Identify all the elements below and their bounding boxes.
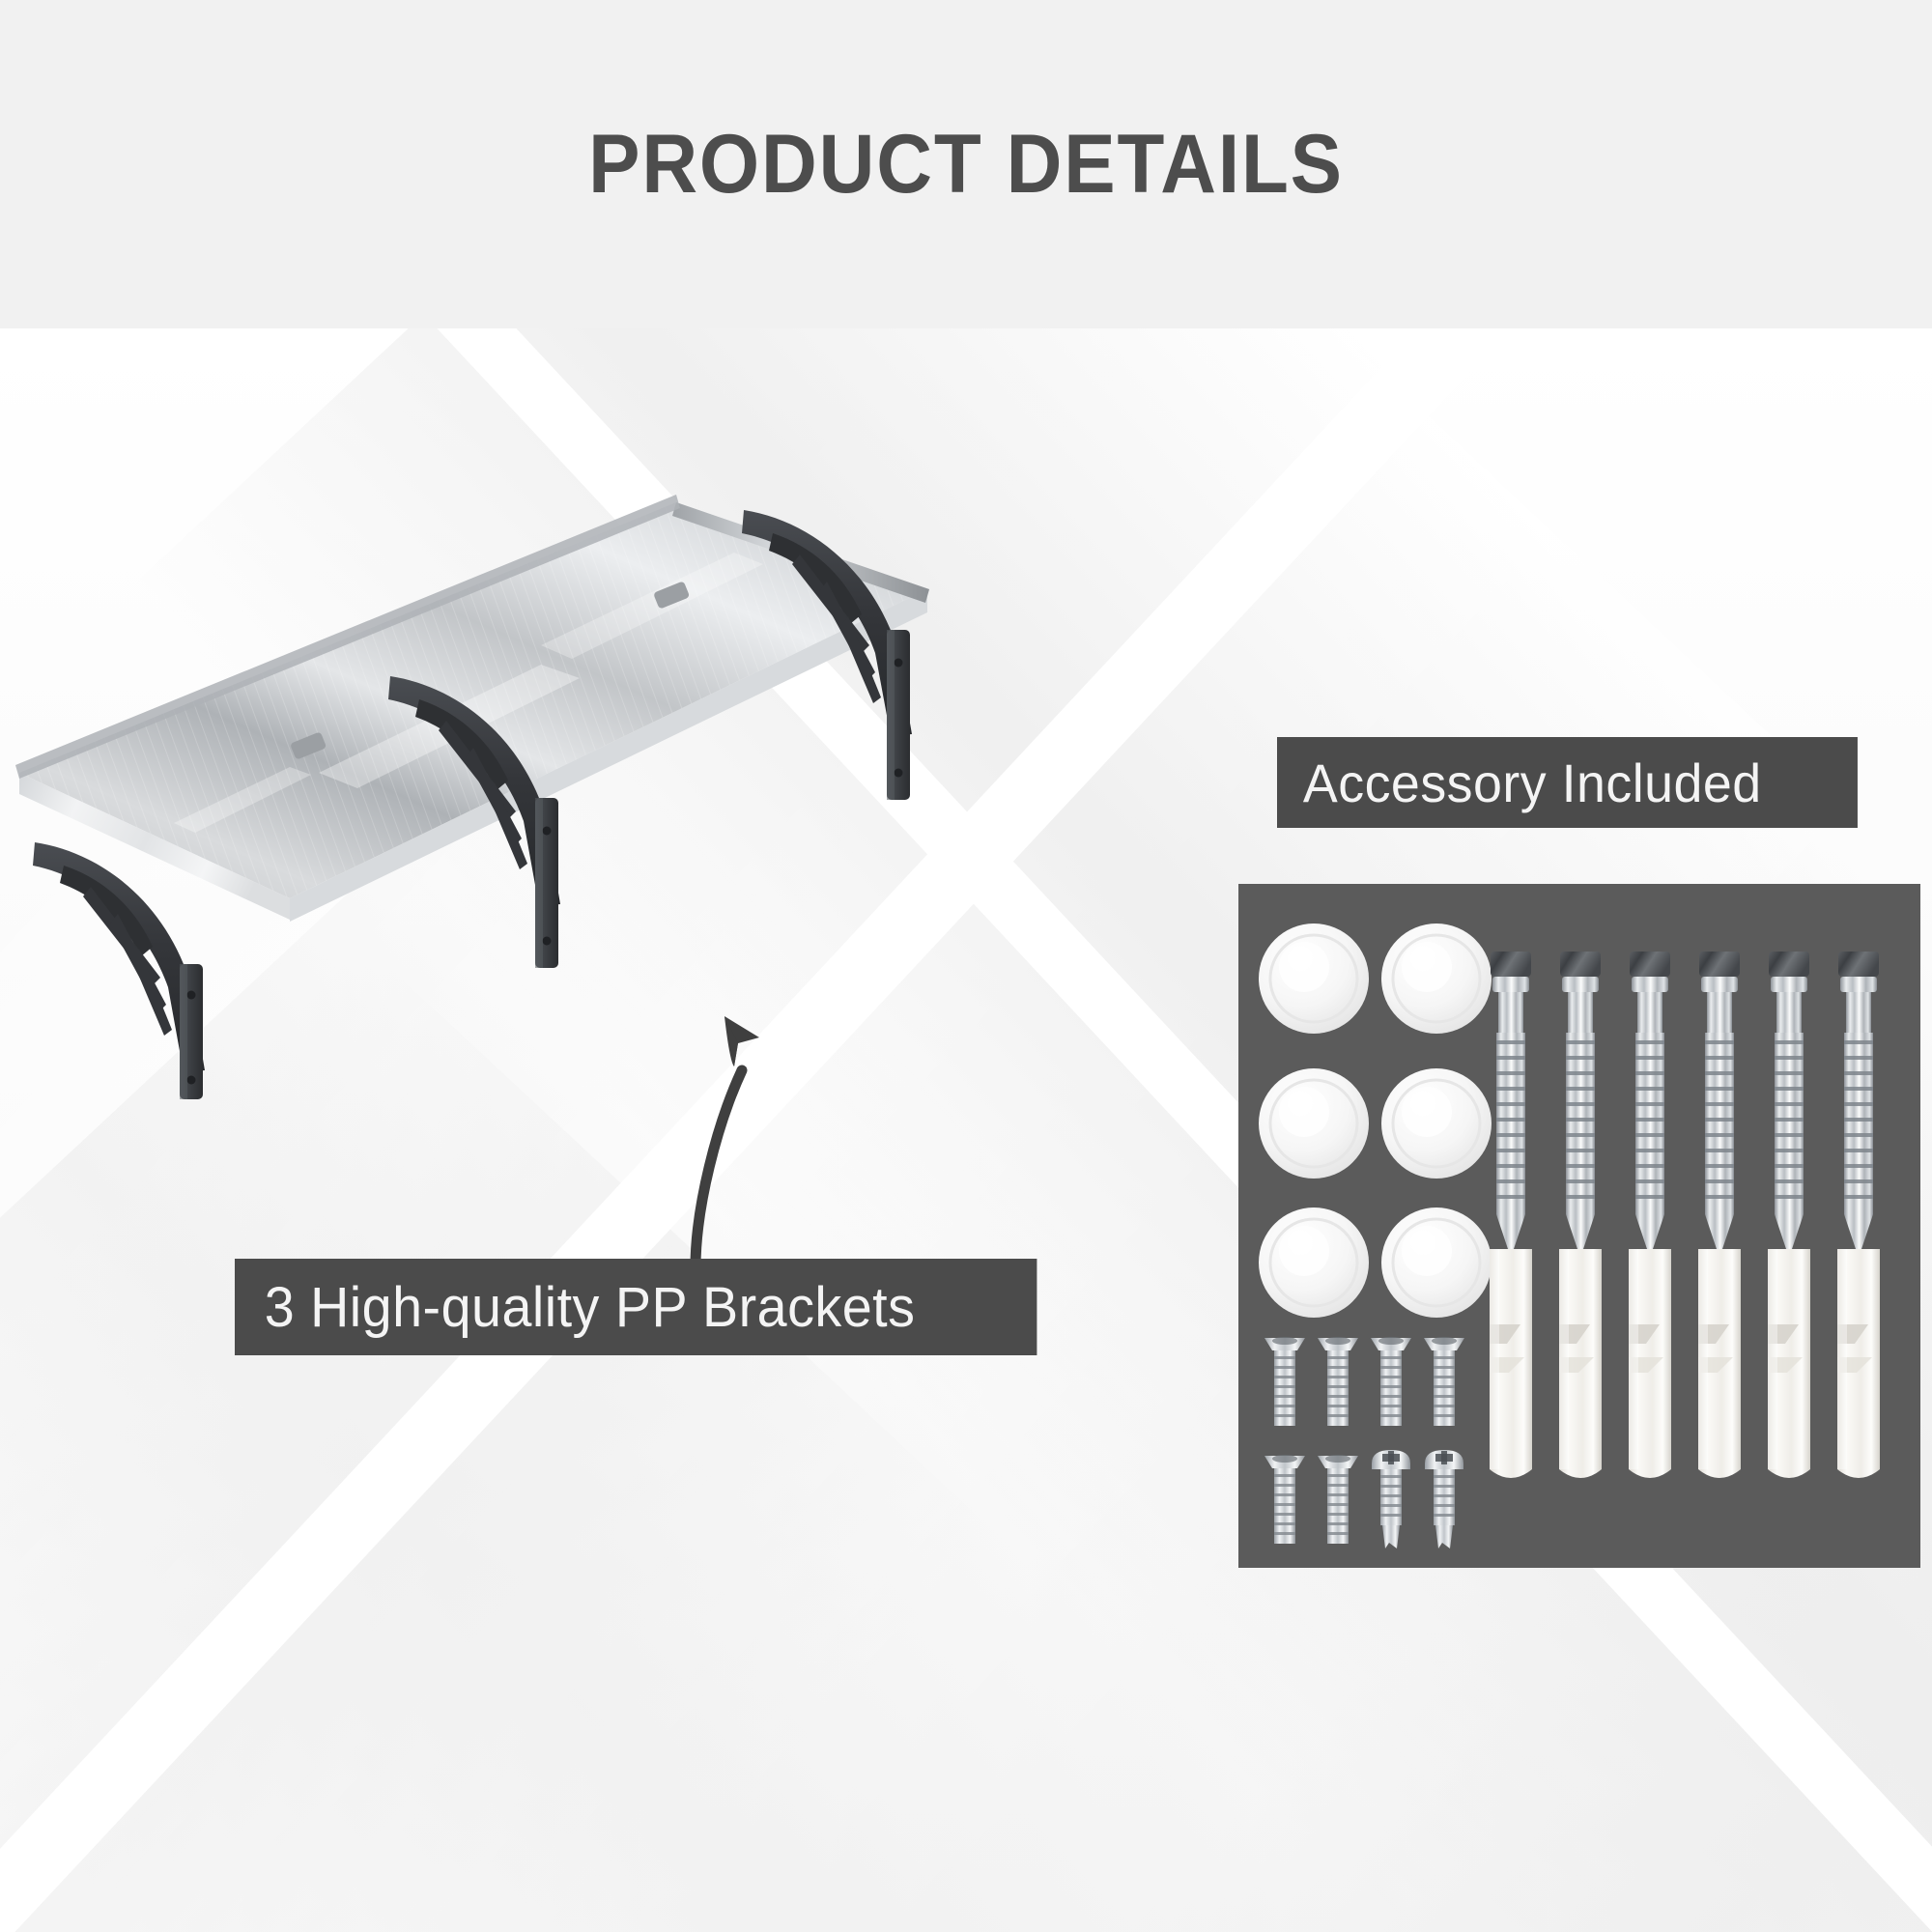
hex-head-lag-screws-group (1491, 952, 1879, 1249)
self-drilling-pan-head-screws-group (1372, 1450, 1463, 1548)
bracket-left (33, 842, 205, 1099)
header-band: PRODUCT DETAILS (0, 0, 1932, 328)
product-detail-page: PRODUCT DETAILS (0, 0, 1932, 1932)
callout-label-brackets: 3 High-quality PP Brackets (235, 1259, 1037, 1355)
callout-label-accessory: Accessory Included (1277, 737, 1858, 828)
accessory-kit-illustration (1238, 884, 1920, 1568)
accessory-kit-panel (1238, 884, 1920, 1568)
flat-head-machine-screws-row1 (1264, 1337, 1464, 1426)
white-cover-caps-group (1259, 923, 1492, 1318)
flat-head-machine-screws-row2 (1264, 1455, 1358, 1544)
page-title: PRODUCT DETAILS (68, 0, 1864, 328)
plastic-wall-anchors-group (1490, 1249, 1880, 1478)
callout-arrow-icon (667, 966, 1034, 1275)
